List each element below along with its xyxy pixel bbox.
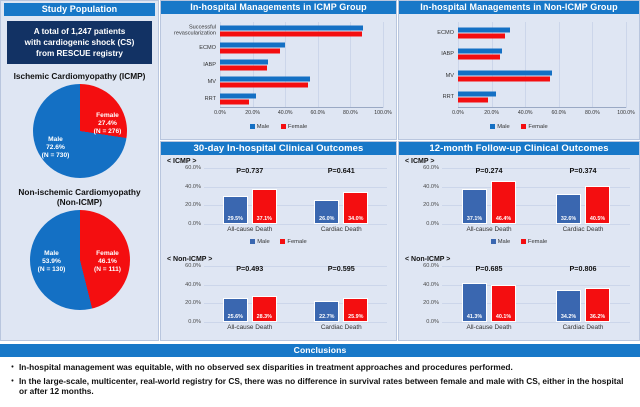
bar-male	[220, 25, 363, 30]
column-female: 34.0%	[343, 168, 368, 224]
legend-female: Female	[280, 239, 306, 245]
bar-female	[220, 31, 362, 36]
x-axis-category-label: Cardiac Death	[563, 324, 604, 331]
male-swatch-icon	[250, 124, 255, 129]
outcomes-12month-nonicmp-group: < Non-ICMP > 0.0%20.0%40.0%60.0%P=0.6854…	[404, 256, 634, 342]
legend-female-label: Female	[528, 124, 547, 130]
bar-male	[220, 94, 256, 99]
nonicmp-managements-panel: In-hospital Managements in Non-ICMP Grou…	[398, 0, 640, 140]
outcomes-30day-nonicmp-head: < Non-ICMP >	[167, 256, 391, 263]
column-male: 26.0%	[314, 168, 339, 224]
bar-male	[458, 27, 510, 32]
bar-group: ECMO	[220, 39, 383, 56]
column-female: 28.3%	[252, 266, 277, 322]
column-female: 40.1%	[491, 266, 516, 322]
outcomes-12month-nonicmp-head: < Non-ICMP >	[405, 256, 634, 263]
column-value-label: 32.6%	[557, 216, 580, 222]
legend-male-label: Male	[257, 124, 270, 130]
x-axis-category-label: All-cause Death	[466, 324, 511, 331]
study-population-panel: Study Population A total of 1,247 patien…	[0, 0, 159, 341]
y-axis-tick: 0.0%	[188, 319, 201, 325]
outcomes-30day-icmp-legend: Male Female	[166, 239, 391, 245]
nonicmp-male-name: Male	[28, 250, 76, 258]
icmp-male-name: Male	[28, 136, 84, 144]
column-value-label: 25.9%	[344, 314, 367, 320]
y-axis-tick: 0.0%	[426, 319, 439, 325]
conclusions-panel: Conclusions •In-hospital management was …	[0, 344, 640, 407]
bar-group: IABP	[220, 56, 383, 73]
column-bar: 46.4%	[491, 181, 516, 224]
legend-male-label: Male	[497, 124, 510, 130]
legend-male-label: Male	[257, 239, 270, 245]
study-summary-line-1: A total of 1,247 patients	[9, 26, 150, 37]
x-axis-tick: 100.0%	[374, 110, 392, 116]
x-axis-category-label: Cardiac Death	[563, 226, 604, 233]
bar-female	[220, 48, 280, 53]
bar-group: RRT	[220, 91, 383, 108]
icmp-managements-legend: Male Female	[166, 124, 391, 130]
column-bar: 40.1%	[491, 285, 516, 322]
column-bar: 22.7%	[314, 301, 339, 322]
bar-male	[458, 49, 502, 54]
column-male: 25.6%	[223, 266, 248, 322]
nonicmp-female-count: (N = 111)	[84, 266, 132, 274]
column-male: 22.7%	[314, 266, 339, 322]
y-axis-tick: 20.0%	[423, 202, 439, 208]
gridline	[626, 22, 627, 108]
bar-group: IABP	[458, 44, 626, 66]
legend-female-label: Female	[288, 124, 307, 130]
study-summary-line-2: with cardiogenic shock (CS)	[9, 37, 150, 48]
x-axis-tick: 40.0%	[278, 110, 293, 116]
column-female: 25.9%	[343, 266, 368, 322]
icmp-pie-chart: Female 27.4% (N = 276) Male 72.6% (N = 7…	[1, 84, 158, 180]
y-axis-tick: 40.0%	[185, 282, 201, 288]
x-axis-category-label: Cardiac Death	[321, 324, 362, 331]
gridline	[442, 224, 630, 225]
x-axis-tick: 80.0%	[343, 110, 358, 116]
legend-female: Female	[281, 124, 307, 130]
outcomes-30day-panel: 30-day In-hospital Clinical Outcomes < I…	[160, 141, 397, 341]
x-axis-category-label: Cardiac Death	[321, 226, 362, 233]
y-axis-tick: 60.0%	[423, 165, 439, 171]
icmp-pie-female-label: Female 27.4% (N = 276)	[82, 112, 134, 136]
outcomes-12month-icmp-group: < ICMP > 0.0%20.0%40.0%60.0%P=0.27437.1%…	[404, 158, 634, 244]
outcomes-30day-title: 30-day In-hospital Clinical Outcomes	[161, 142, 396, 155]
icmp-pie-male-label: Male 72.6% (N = 730)	[28, 136, 84, 160]
column-value-label: 41.3%	[463, 314, 486, 320]
outcomes-30day-nonicmp-plot: 0.0%20.0%40.0%60.0%P=0.49325.6%28.3%All-…	[204, 266, 387, 322]
x-axis-category-label: All-cause Death	[227, 226, 272, 233]
column-value-label: 37.1%	[253, 216, 276, 222]
category-label: RRT	[443, 94, 454, 100]
column-value-label: 25.6%	[224, 314, 247, 320]
bar-female	[220, 100, 249, 105]
study-population-title: Study Population	[4, 3, 155, 16]
outcomes-12month-title: 12-month Follow-up Clinical Outcomes	[399, 142, 639, 155]
column-value-label: 26.0%	[315, 216, 338, 222]
column-male: 34.2%	[556, 266, 581, 322]
column-bar: 34.2%	[556, 290, 581, 322]
nonicmp-managements-legend: Male Female	[404, 124, 634, 130]
bar-female	[458, 76, 550, 81]
study-summary-line-3: from RESCUE registry	[9, 48, 150, 59]
gridline	[204, 322, 387, 323]
bar-pair	[220, 25, 383, 36]
legend-male: Male	[490, 124, 510, 130]
x-axis-category-label: All-cause Death	[227, 324, 272, 331]
bar-pair	[458, 49, 626, 60]
y-axis-tick: 40.0%	[423, 282, 439, 288]
conclusion-text: In the large-scale, multicenter, real-wo…	[19, 376, 634, 397]
column-value-label: 34.2%	[557, 314, 580, 320]
bar-female	[458, 33, 505, 38]
column-value-label: 29.5%	[224, 216, 247, 222]
column-bar: 37.1%	[462, 189, 487, 224]
bar-group: ECMO	[458, 22, 626, 44]
category-label: RRT	[205, 96, 216, 102]
x-axis-tick: 40.0%	[518, 110, 533, 116]
bullet-icon: •	[6, 376, 19, 397]
outcomes-12month-panel: 12-month Follow-up Clinical Outcomes < I…	[398, 141, 640, 341]
column-male: 32.6%	[556, 168, 581, 224]
x-axis-tick: 60.0%	[551, 110, 566, 116]
column-bar: 36.2%	[585, 288, 610, 322]
bar-group: MV	[458, 65, 626, 87]
nonicmp-title-line-2: (Non-ICMP)	[1, 197, 158, 207]
column-bar: 32.6%	[556, 194, 581, 224]
y-axis-tick: 0.0%	[188, 221, 201, 227]
outcomes-30day-nonicmp-group: < Non-ICMP > 0.0%20.0%40.0%60.0%P=0.4932…	[166, 256, 391, 342]
bar-pair	[220, 77, 383, 88]
y-axis-tick: 60.0%	[185, 263, 201, 269]
gridline	[204, 224, 387, 225]
conclusion-item: •In the large-scale, multicenter, real-w…	[6, 376, 634, 397]
nonicmp-managements-title: In-hospital Managements in Non-ICMP Grou…	[399, 1, 639, 14]
icmp-male-pct: 72.6%	[28, 144, 84, 152]
study-summary-box: A total of 1,247 patients with cardiogen…	[7, 21, 152, 64]
column-bar: 34.0%	[343, 192, 368, 224]
y-axis-tick: 40.0%	[423, 184, 439, 190]
y-axis-tick: 40.0%	[185, 184, 201, 190]
icmp-managements-body: 0.0%20.0%40.0%60.0%80.0%100.0%Successful…	[166, 18, 391, 130]
category-label: MV	[446, 73, 454, 79]
y-axis-tick: 60.0%	[423, 263, 439, 269]
bar-female	[458, 98, 488, 103]
icmp-female-count: (N = 276)	[82, 128, 134, 136]
conclusion-item: •In-hospital management was equitable, w…	[6, 362, 634, 374]
conclusion-text: In-hospital management was equitable, wi…	[19, 362, 634, 374]
male-swatch-icon	[490, 124, 495, 129]
female-swatch-icon	[281, 124, 286, 129]
column-bar: 40.5%	[585, 186, 610, 224]
nonicmp-managements-body: 0.0%20.0%40.0%60.0%80.0%100.0%ECMOIABPMV…	[404, 18, 634, 130]
bar-female	[220, 65, 267, 70]
column-bar: 25.9%	[343, 298, 368, 322]
poster-root: Study Population A total of 1,247 patien…	[0, 0, 640, 407]
x-axis-tick: 80.0%	[585, 110, 600, 116]
bar-pair	[220, 42, 383, 53]
column-bar: 37.1%	[252, 189, 277, 224]
y-axis-tick: 60.0%	[185, 165, 201, 171]
x-axis-category-label: All-cause Death	[466, 226, 511, 233]
outcomes-12month-nonicmp-plot: 0.0%20.0%40.0%60.0%P=0.68541.3%40.1%All-…	[442, 266, 630, 322]
bar-pair	[458, 92, 626, 103]
icmp-managements-plot: 0.0%20.0%40.0%60.0%80.0%100.0%Successful…	[220, 22, 383, 108]
x-axis-tick: 20.0%	[484, 110, 499, 116]
column-male: 37.1%	[462, 168, 487, 224]
x-axis-tick: 0.0%	[452, 110, 464, 116]
y-axis-tick: 20.0%	[185, 202, 201, 208]
column-female: 40.5%	[585, 168, 610, 224]
x-axis-tick: 20.0%	[245, 110, 260, 116]
column-value-label: 34.0%	[344, 216, 367, 222]
legend-male: Male	[491, 239, 511, 245]
nonicmp-male-count: (N = 130)	[28, 266, 76, 274]
nonicmp-male-pct: 53.9%	[28, 258, 76, 266]
column-female: 46.4%	[491, 168, 516, 224]
category-label: ECMO	[199, 45, 216, 51]
nonicmp-female-pct: 46.1%	[84, 258, 132, 266]
column-bar: 41.3%	[462, 283, 487, 322]
nonicmp-female-name: Female	[84, 250, 132, 258]
category-label: IABP	[441, 51, 454, 57]
column-value-label: 22.7%	[315, 314, 338, 320]
bar-male	[220, 59, 268, 64]
bullet-icon: •	[6, 362, 19, 374]
y-axis-tick: 20.0%	[423, 300, 439, 306]
nonicmp-pie-female-label: Female 46.1% (N = 111)	[84, 250, 132, 274]
category-label: MV	[208, 79, 216, 85]
column-value-label: 37.1%	[463, 216, 486, 222]
nonicmp-pie-chart: Female 46.1% (N = 111) Male 53.9% (N = 1…	[1, 210, 158, 310]
nonicmp-pie-male-label: Male 53.9% (N = 130)	[28, 250, 76, 274]
bar-female	[458, 55, 500, 60]
legend-male: Male	[250, 124, 270, 130]
icmp-male-count: (N = 730)	[28, 152, 84, 160]
y-axis-tick: 0.0%	[426, 221, 439, 227]
outcomes-30day-icmp-group: < ICMP > 0.0%20.0%40.0%60.0%P=0.73729.5%…	[166, 158, 391, 244]
female-swatch-icon	[521, 124, 526, 129]
bar-male	[458, 70, 552, 75]
icmp-female-name: Female	[82, 112, 134, 120]
bar-group: RRT	[458, 87, 626, 109]
bar-male	[220, 42, 285, 47]
legend-male-label: Male	[498, 239, 511, 245]
female-swatch-icon	[521, 239, 526, 244]
legend-female: Female	[521, 239, 547, 245]
bar-group: Successfulrevascularization	[220, 22, 383, 39]
column-value-label: 46.4%	[492, 216, 515, 222]
column-female: 36.2%	[585, 266, 610, 322]
category-label: IABP	[203, 62, 216, 68]
icmp-female-pct: 27.4%	[82, 120, 134, 128]
column-bar: 25.6%	[223, 298, 248, 322]
category-label: ECMO	[437, 30, 454, 36]
icmp-pie-title: Ischemic Cardiomyopathy (ICMP)	[1, 71, 158, 81]
outcomes-12month-icmp-head: < ICMP >	[405, 158, 634, 165]
gridline	[442, 322, 630, 323]
legend-female: Female	[521, 124, 547, 130]
nonicmp-title-line-1: Non-ischemic Cardiomyopathy	[1, 187, 158, 197]
legend-female-label: Female	[528, 239, 547, 245]
column-male: 41.3%	[462, 266, 487, 322]
bar-male	[220, 77, 310, 82]
outcomes-30day-icmp-head: < ICMP >	[167, 158, 391, 165]
x-axis-tick: 60.0%	[310, 110, 325, 116]
male-swatch-icon	[250, 239, 255, 244]
male-swatch-icon	[491, 239, 496, 244]
legend-female-label: Female	[287, 239, 306, 245]
conclusions-body: •In-hospital management was equitable, w…	[0, 357, 640, 397]
bar-group: MV	[220, 74, 383, 91]
column-value-label: 40.1%	[492, 314, 515, 320]
x-axis-tick: 100.0%	[617, 110, 635, 116]
icmp-managements-title: In-hospital Managements in ICMP Group	[161, 1, 396, 14]
bar-pair	[220, 59, 383, 70]
nonicmp-pie-title: Non-ischemic Cardiomyopathy (Non-ICMP)	[1, 187, 158, 207]
column-bar: 28.3%	[252, 296, 277, 322]
column-bar: 29.5%	[223, 196, 248, 224]
column-value-label: 40.5%	[586, 216, 609, 222]
gridline	[383, 22, 384, 108]
bar-male	[458, 92, 496, 97]
outcomes-12month-icmp-legend: Male Female	[404, 239, 634, 245]
column-male: 29.5%	[223, 168, 248, 224]
column-bar: 26.0%	[314, 200, 339, 224]
y-axis-tick: 20.0%	[185, 300, 201, 306]
outcomes-30day-icmp-plot: 0.0%20.0%40.0%60.0%P=0.73729.5%37.1%All-…	[204, 168, 387, 224]
bar-female	[220, 83, 308, 88]
legend-male: Male	[250, 239, 270, 245]
nonicmp-managements-plot: 0.0%20.0%40.0%60.0%80.0%100.0%ECMOIABPMV…	[458, 22, 626, 108]
column-value-label: 28.3%	[253, 314, 276, 320]
outcomes-12month-icmp-plot: 0.0%20.0%40.0%60.0%P=0.27437.1%46.4%All-…	[442, 168, 630, 224]
bar-pair	[220, 94, 383, 105]
conclusions-title: Conclusions	[0, 344, 640, 357]
icmp-managements-panel: In-hospital Managements in ICMP Group 0.…	[160, 0, 397, 140]
bar-pair	[458, 27, 626, 38]
female-swatch-icon	[280, 239, 285, 244]
x-axis-tick: 0.0%	[214, 110, 226, 116]
category-label: Successfulrevascularization	[174, 24, 216, 37]
bar-pair	[458, 70, 626, 81]
column-value-label: 36.2%	[586, 314, 609, 320]
column-female: 37.1%	[252, 168, 277, 224]
